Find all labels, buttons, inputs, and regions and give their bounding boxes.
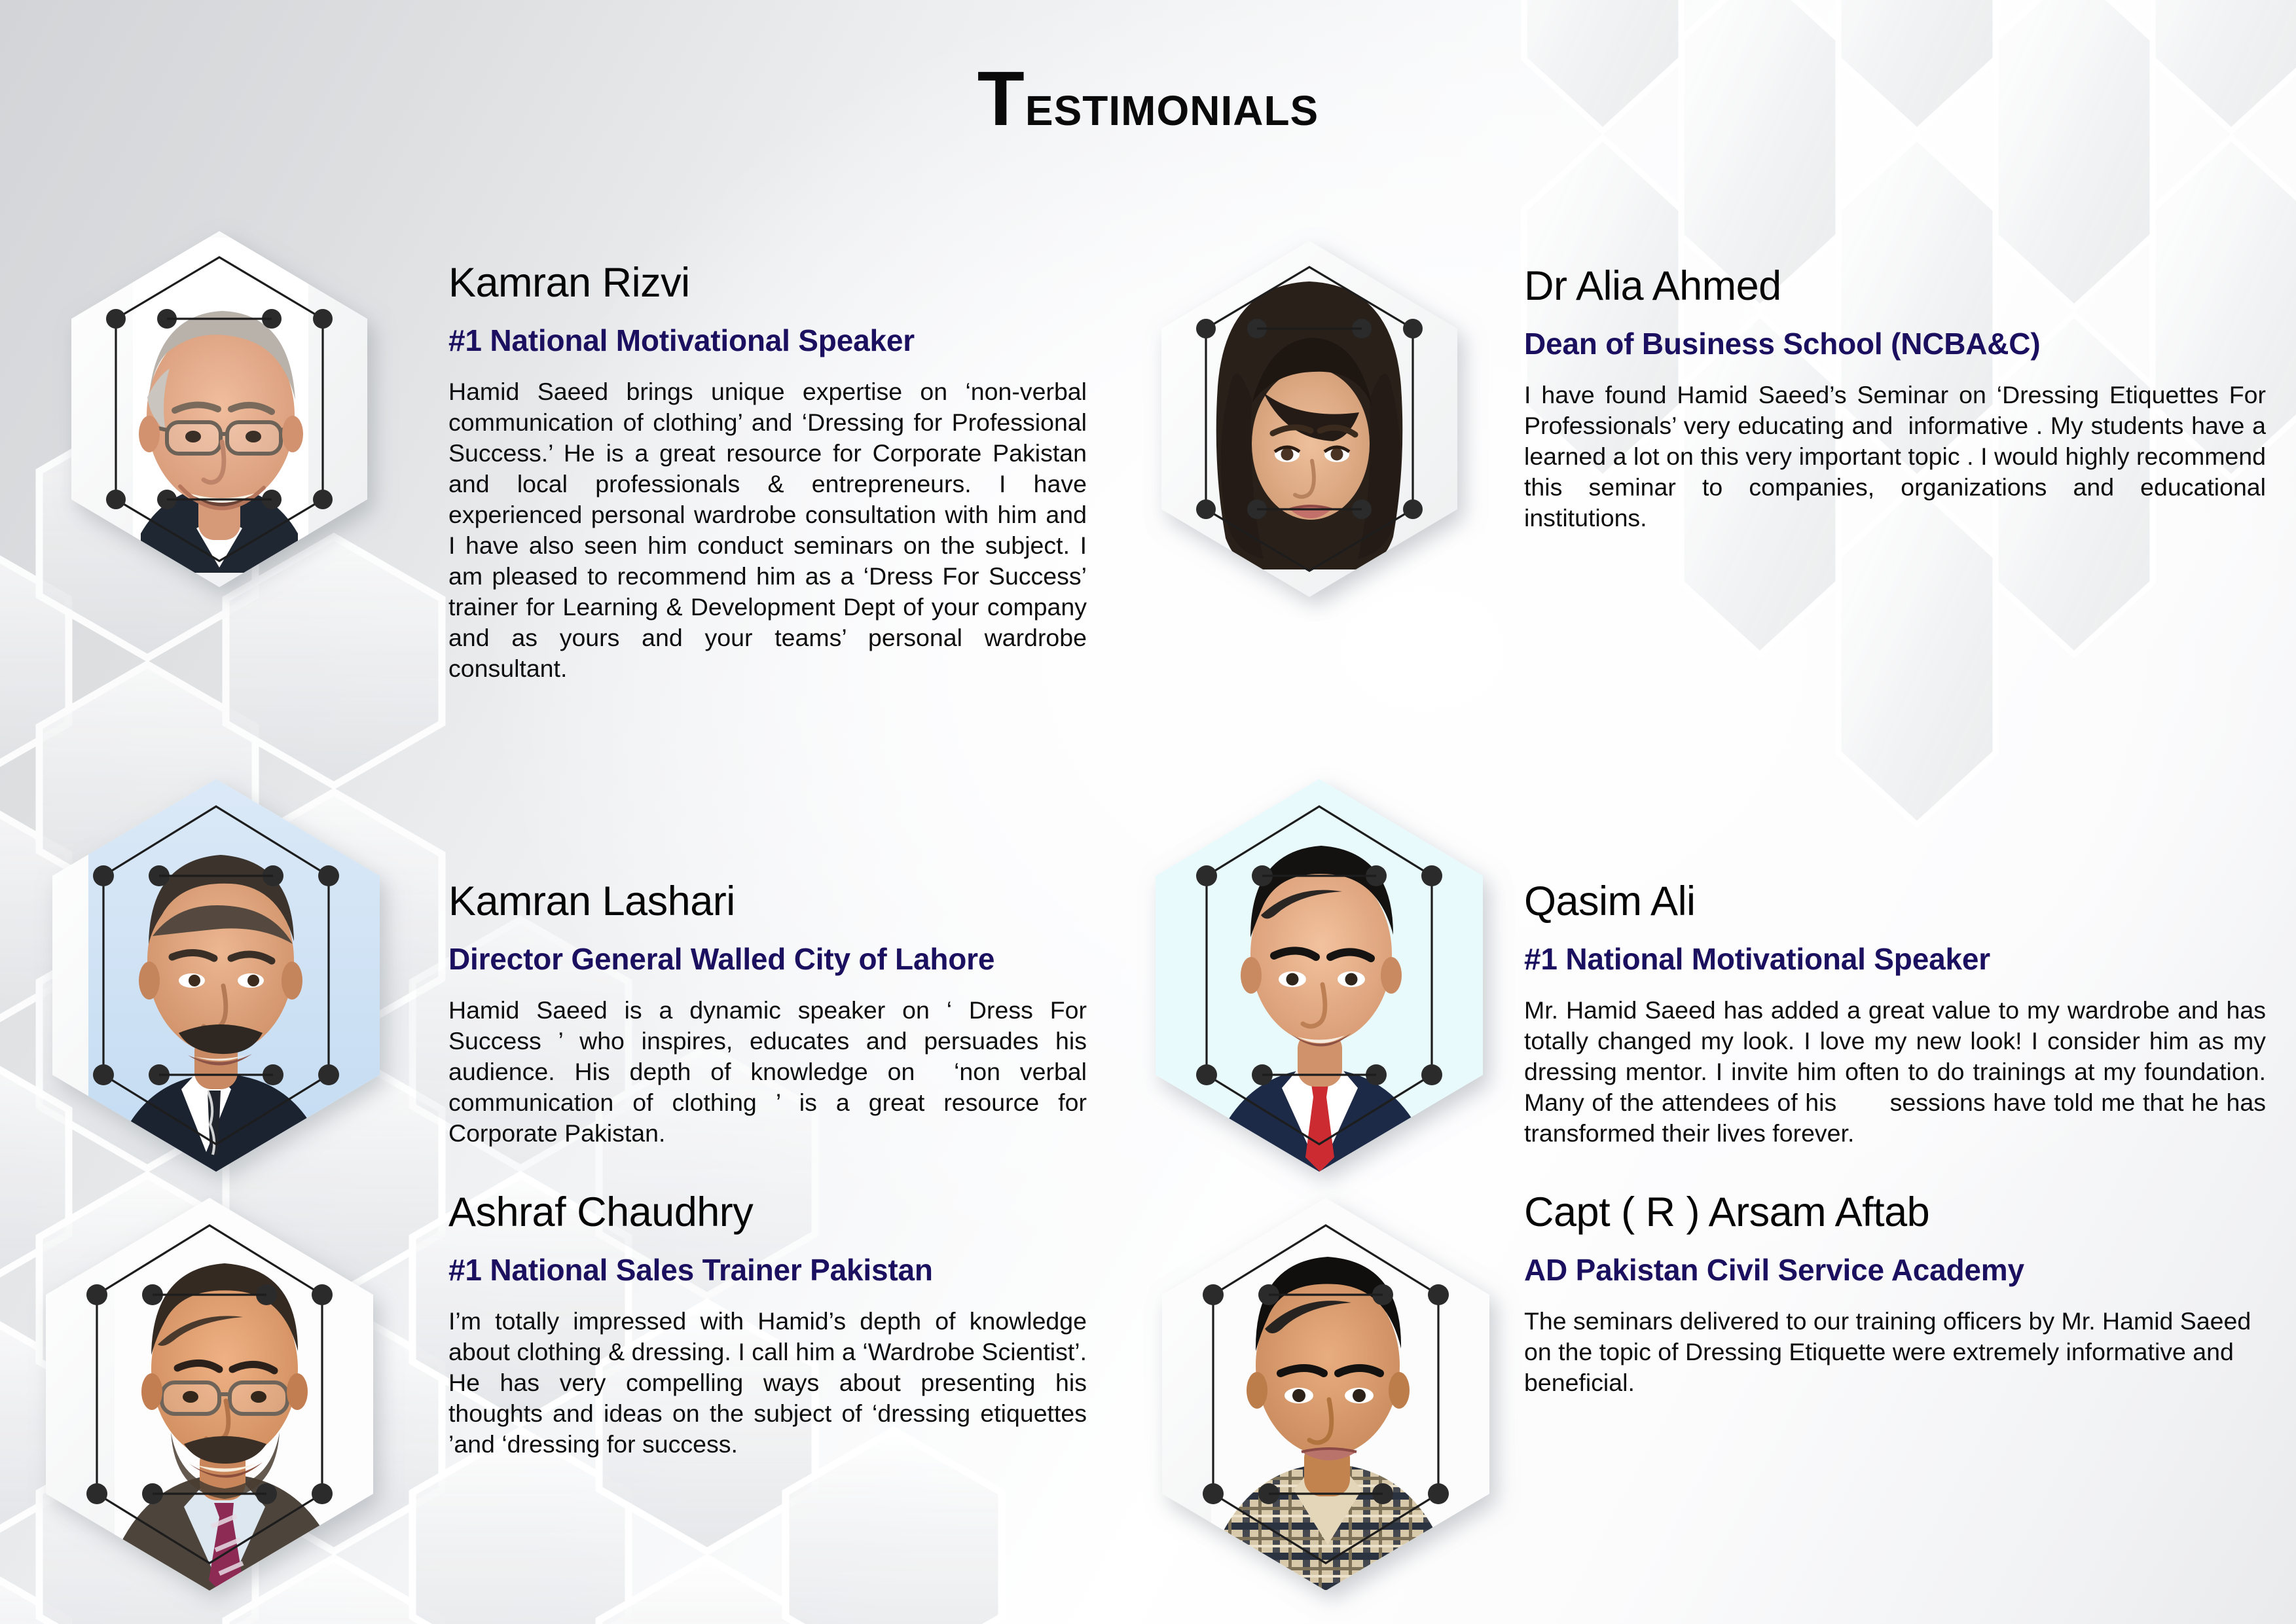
text-block-dr-alia-ahmed: Dr Alia Ahmed Dean of Business School (N… — [1524, 265, 2266, 533]
avatar-hexagon-ashraf-chaudhry — [36, 1191, 383, 1597]
testimonial-role: #1 National Motivational Speaker — [1524, 943, 2266, 975]
photo-capt-arsam-aftab — [1211, 1198, 1499, 1597]
testimonial-card-ashraf-chaudhry: Ashraf Chaudhry #1 National Sales Traine… — [0, 1191, 1113, 1624]
testimonial-role: Dean of Business School (NCBA&C) — [1524, 328, 2266, 359]
text-block-capt-arsam-aftab: Capt ( R ) Arsam Aftab AD Pakistan Civil… — [1524, 1191, 2266, 1398]
testimonial-role: AD Pakistan Civil Service Academy — [1524, 1254, 2266, 1286]
testimonial-quote: Hamid Saeed brings unique expertise on ‘… — [448, 376, 1087, 685]
testimonial-quote: Hamid Saeed is a dynamic speaker on ‘ Dr… — [448, 995, 1087, 1149]
testimonial-name: Qasim Ali — [1524, 880, 2266, 922]
testimonial-name: Kamran Lashari — [448, 880, 1087, 922]
testimonial-role: #1 National Sales Trainer Pakistan — [448, 1254, 1087, 1286]
text-block-ashraf-chaudhry: Ashraf Chaudhry #1 National Sales Traine… — [448, 1191, 1087, 1460]
text-block-qasim-ali: Qasim Ali #1 National Motivational Speak… — [1524, 880, 2266, 1149]
avatar-hexagon-kamran-lashari — [43, 772, 390, 1178]
photo-dr-alia-ahmed — [1216, 281, 1403, 569]
testimonial-name: Kamran Rizvi — [448, 262, 1087, 304]
testimonial-name: Ashraf Chaudhry — [448, 1191, 1087, 1233]
testimonial-card-qasim-ali: Qasim Ali #1 National Motivational Speak… — [1139, 772, 2296, 1191]
avatar-hexagon-dr-alia-ahmed — [1152, 236, 1467, 602]
testimonial-quote: Mr. Hamid Saeed has added a great value … — [1524, 995, 2266, 1149]
avatar-hexagon-kamran-rizvi — [62, 226, 376, 592]
text-block-kamran-rizvi: Kamran Rizvi #1 National Motivational Sp… — [448, 262, 1087, 684]
testimonial-card-dr-alia-ahmed: Dr Alia Ahmed Dean of Business School (N… — [1139, 0, 2296, 772]
testimonial-quote: I’m totally impressed with Hamid’s depth… — [448, 1306, 1087, 1460]
testimonial-quote: I have found Hamid Saeed’s Seminar on ‘D… — [1524, 380, 2266, 533]
photo-ashraf-chaudhry — [115, 1198, 383, 1597]
testimonial-card-kamran-rizvi: Kamran Rizvi #1 National Motivational Sp… — [0, 0, 1113, 772]
testimonial-role: #1 National Motivational Speaker — [448, 325, 1087, 356]
testimonial-quote: The seminars delivered to our training o… — [1524, 1306, 2266, 1398]
testimonial-role: Director General Walled City of Lahore — [448, 943, 1087, 975]
photo-kamran-lashari — [88, 779, 390, 1178]
testimonial-card-capt-arsam-aftab: Capt ( R ) Arsam Aftab AD Pakistan Civil… — [1139, 1191, 2296, 1624]
text-block-kamran-lashari: Kamran Lashari Director General Walled C… — [448, 880, 1087, 1149]
avatar-hexagon-capt-arsam-aftab — [1152, 1191, 1499, 1597]
avatar-hexagon-qasim-ali — [1146, 772, 1493, 1178]
testimonials-page: Testimonials — [0, 0, 2296, 1624]
testimonial-card-kamran-lashari: Kamran Lashari Director General Walled C… — [0, 772, 1113, 1191]
testimonial-name: Dr Alia Ahmed — [1524, 265, 2266, 307]
testimonial-name: Capt ( R ) Arsam Aftab — [1524, 1191, 2266, 1233]
